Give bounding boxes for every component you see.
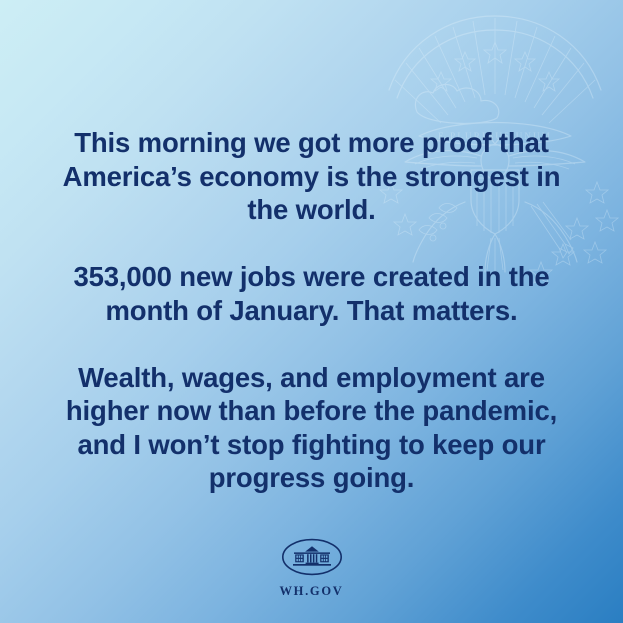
- message-paragraph-1: This morning we got more proof that Amer…: [58, 126, 565, 227]
- social-graphic-card: E PLURIBUS UNUM: [0, 0, 623, 623]
- message-paragraph-2: 353,000 new jobs were created in the mon…: [58, 260, 565, 327]
- seal-cloud-stars: [415, 42, 559, 123]
- wh-gov-label: WH.GOV: [279, 584, 343, 599]
- footer-logo: WH.GOV: [0, 538, 623, 599]
- white-house-emblem-icon: [281, 538, 343, 576]
- seal-glory-rays: [389, 16, 601, 123]
- message-block: This morning we got more proof that Amer…: [0, 126, 623, 495]
- message-paragraph-3: Wealth, wages, and employment are higher…: [58, 361, 565, 495]
